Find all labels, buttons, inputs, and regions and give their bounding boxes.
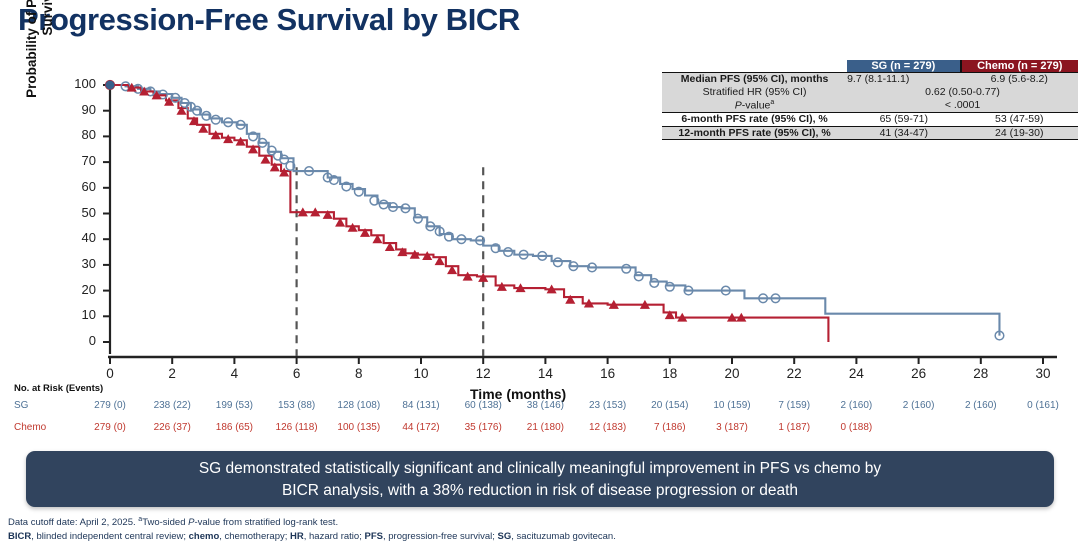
abbrev-pfs: PFS [364, 531, 382, 542]
censor-marker-sg-22 [355, 187, 364, 196]
row-value-12month-sg: 41 (34-47) [847, 126, 960, 140]
censor-marker-sg-3 [159, 90, 168, 99]
risk-value-sg-m6: 153 (88) [267, 400, 327, 411]
censor-marker-sg-13 [258, 139, 267, 148]
risk-row-label-chemo: Chemo [14, 422, 46, 433]
censor-marker-chemo-21 [386, 243, 394, 250]
censor-marker-sg-4 [171, 94, 180, 103]
censor-marker-sg-15 [274, 151, 283, 160]
x-tick-label-2: 2 [157, 366, 187, 381]
footnote-abbreviations: BICR, blinded independent central review… [8, 530, 808, 543]
y-tick-label-30: 30 [62, 256, 96, 271]
censor-marker-chemo-35 [641, 301, 649, 308]
censor-marker-chemo-10 [249, 145, 257, 152]
censor-marker-chemo-16 [324, 211, 332, 218]
row-label-12month: 12-month PFS rate (95% CI), % [662, 126, 847, 140]
abbrev-bicr: BICR [8, 531, 31, 542]
censor-marker-sg-6 [187, 103, 196, 112]
risk-value-chemo-m2: 226 (37) [142, 422, 202, 433]
risk-value-sg-m8: 128 (108) [329, 400, 389, 411]
risk-value-sg-m2: 238 (22) [142, 400, 202, 411]
censor-marker-chemo-27 [463, 273, 471, 280]
x-tick-label-24: 24 [841, 366, 871, 381]
risk-value-chemo-m8: 100 (135) [329, 422, 389, 433]
risk-value-chemo-m14: 21 (180) [515, 422, 575, 433]
censor-marker-sg-38 [569, 262, 578, 271]
risk-value-sg-m22: 7 (159) [764, 400, 824, 411]
footnote-line-1: Data cutoff date: April 2, 2025. aTwo-si… [8, 515, 808, 530]
censor-marker-sg-27 [414, 214, 423, 223]
risk-value-chemo-m16: 12 (183) [578, 422, 638, 433]
censor-marker-chemo-11 [261, 156, 269, 163]
censor-marker-sg-39 [588, 263, 597, 272]
censor-marker-sg-36 [538, 252, 547, 261]
abbrev-chemo: chemo [189, 531, 220, 542]
censor-marker-chemo-15 [311, 208, 319, 215]
x-tick-label-20: 20 [717, 366, 747, 381]
censor-marker-chemo-26 [448, 266, 456, 273]
censor-marker-chemo-30 [516, 284, 524, 291]
page-title: Progression-Free Survival by BICR [18, 2, 520, 38]
censor-marker-sg-35 [519, 250, 528, 259]
risk-value-sg-m28: 2 (160) [951, 400, 1011, 411]
abbrev-bicr-def: , blinded independent central review; [31, 531, 188, 542]
abbrev-hr: HR [290, 531, 304, 542]
y-tick-label-80: 80 [62, 127, 96, 142]
stats-header-sg: SG (n = 279) [847, 60, 960, 73]
y-tick-label-90: 90 [62, 102, 96, 117]
x-tick-label-10: 10 [406, 366, 436, 381]
censor-marker-chemo-6 [199, 125, 207, 132]
risk-value-chemo-m24: 0 (188) [826, 422, 886, 433]
conclusion-banner: SG demonstrated statistically significan… [26, 451, 1054, 507]
censor-marker-sg-32 [476, 236, 485, 245]
table-row-pvalue: P-valuea < .0001 [662, 99, 1078, 113]
censor-marker-chemo-38 [728, 314, 736, 321]
censor-marker-sg-46 [759, 294, 768, 303]
censor-marker-chemo-36 [666, 311, 674, 318]
censor-marker-sg-9 [211, 115, 220, 124]
row-value-6month-sg: 65 (59-71) [847, 112, 960, 126]
banner-line-1: SG demonstrated statistically significan… [26, 458, 1054, 480]
censor-marker-chemo-1 [140, 88, 148, 95]
row-label-median-pfs: Median PFS (95% CI), months [662, 73, 847, 86]
censor-marker-sg-14 [267, 146, 276, 155]
censor-marker-sg-24 [379, 200, 388, 209]
footnote-logrank: -value from stratified log-rank test. [194, 517, 338, 528]
censor-marker-chemo-2 [152, 91, 160, 98]
censor-marker-sg-44 [684, 286, 693, 295]
y-tick-label-40: 40 [62, 230, 96, 245]
risk-value-chemo-m18: 7 (186) [640, 422, 700, 433]
risk-value-chemo-m0: 279 (0) [80, 422, 140, 433]
risk-value-sg-m26: 2 (160) [889, 400, 949, 411]
y-tick-label-70: 70 [62, 153, 96, 168]
censor-marker-chemo-12 [271, 163, 279, 170]
censor-marker-sg-19 [323, 173, 332, 182]
censor-marker-sg-40 [622, 264, 631, 273]
y-tick-label-0: 0 [62, 333, 96, 348]
censor-marker-sg-11 [236, 121, 245, 130]
y-axis-label: Probability of Progression-Free Survival… [24, 0, 56, 112]
row-label-stratified-hr: Stratified HR (95% CI) [662, 86, 847, 99]
statistics-table: SG (n = 279) Chemo (n = 279) Median PFS … [662, 60, 1078, 140]
censor-marker-chemo-14 [299, 208, 307, 215]
table-row-median-pfs: Median PFS (95% CI), months 9.7 (8.1-11.… [662, 73, 1078, 86]
risk-value-sg-m18: 20 (154) [640, 400, 700, 411]
censor-marker-chemo-28 [479, 274, 487, 281]
censor-marker-chemo-0 [128, 84, 136, 91]
censor-marker-sg-23 [370, 196, 379, 205]
censor-marker-sg-16 [280, 155, 289, 164]
censor-marker-chemo-13 [280, 169, 288, 176]
row-value-pvalue: < .0001 [847, 99, 1078, 113]
table-row-12month: 12-month PFS rate (95% CI), % 41 (34-47)… [662, 126, 1078, 140]
x-tick-label-12: 12 [468, 366, 498, 381]
y-tick-label-50: 50 [62, 205, 96, 220]
censor-marker-chemo-17 [336, 219, 344, 226]
censor-marker-sg-1 [134, 85, 143, 94]
risk-value-chemo-m10: 44 (172) [391, 422, 451, 433]
stats-header-blank [662, 60, 847, 73]
risk-value-sg-m10: 84 (131) [391, 400, 451, 411]
censor-marker-sg-7 [193, 106, 202, 115]
footnote-twosided: Two-sided [142, 517, 188, 528]
row-label-6month: 6-month PFS rate (95% CI), % [662, 112, 847, 126]
footnotes: Data cutoff date: April 2, 2025. aTwo-si… [8, 515, 808, 543]
risk-value-chemo-m12: 35 (176) [453, 422, 513, 433]
censor-marker-sg-41 [634, 272, 643, 281]
risk-row-label-sg: SG [14, 400, 28, 411]
x-tick-label-8: 8 [344, 366, 374, 381]
stats-header-chemo: Chemo (n = 279) [961, 60, 1079, 73]
censor-marker-chemo-39 [737, 314, 745, 321]
censor-marker-chemo-33 [585, 300, 593, 307]
censor-marker-chemo-32 [566, 296, 574, 303]
censor-marker-sg-10 [224, 118, 233, 127]
x-tick-label-0: 0 [95, 366, 125, 381]
censor-marker-sg-31 [457, 235, 466, 244]
censor-marker-sg-30 [445, 232, 454, 241]
y-tick-label-60: 60 [62, 179, 96, 194]
table-row-stratified-hr: Stratified HR (95% CI) 0.62 (0.50-0.77) [662, 86, 1078, 99]
abbrev-chemo-def: , chemotherapy; [219, 531, 290, 542]
censor-marker-sg-17 [286, 162, 295, 171]
origin-marker-chemo [105, 80, 114, 89]
risk-value-sg-m0: 279 (0) [80, 400, 140, 411]
row-value-median-pfs-sg: 9.7 (8.1-11.1) [847, 73, 960, 86]
pvalue-text: -value [742, 99, 771, 111]
y-tick-label-20: 20 [62, 282, 96, 297]
risk-value-sg-m20: 10 (159) [702, 400, 762, 411]
censor-marker-sg-42 [650, 279, 659, 288]
risk-value-sg-m4: 199 (53) [204, 400, 264, 411]
censor-marker-chemo-24 [423, 252, 431, 259]
risk-value-sg-m12: 60 (138) [453, 400, 513, 411]
risk-value-sg-m30: 0 (161) [1013, 400, 1073, 411]
risk-value-sg-m16: 23 (153) [578, 400, 638, 411]
x-tick-label-4: 4 [219, 366, 249, 381]
pvalue-italic-p: P [735, 99, 742, 111]
censor-marker-sg-0 [121, 82, 130, 91]
risk-value-chemo-m6: 126 (118) [267, 422, 327, 433]
x-tick-label-14: 14 [530, 366, 560, 381]
censor-marker-sg-8 [202, 112, 211, 121]
censor-marker-chemo-22 [398, 248, 406, 255]
banner-line-2: BICR analysis, with a 38% reduction in r… [26, 480, 1054, 502]
censor-marker-chemo-9 [236, 138, 244, 145]
pvalue-superscript: a [770, 99, 774, 106]
censor-marker-chemo-34 [610, 301, 618, 308]
censor-marker-chemo-19 [361, 229, 369, 236]
y-tick-label-10: 10 [62, 307, 96, 322]
x-tick-label-16: 16 [593, 366, 623, 381]
censor-marker-sg-34 [504, 248, 513, 257]
y-tick-label-100: 100 [62, 76, 96, 91]
censor-marker-sg-20 [330, 176, 339, 185]
censor-marker-chemo-5 [190, 117, 198, 124]
risk-value-sg-m24: 2 (160) [826, 400, 886, 411]
stats-header-row: SG (n = 279) Chemo (n = 279) [662, 60, 1078, 73]
table-row-6month: 6-month PFS rate (95% CI), % 65 (59-71) … [662, 112, 1078, 126]
abbrev-sg: SG [498, 531, 512, 542]
censor-marker-sg-12 [249, 132, 258, 141]
censor-marker-sg-25 [389, 203, 398, 212]
censor-marker-chemo-20 [373, 235, 381, 242]
x-tick-label-22: 22 [779, 366, 809, 381]
risk-value-chemo-m20: 3 (187) [702, 422, 762, 433]
abbrev-pfs-def: , progression-free survival; [383, 531, 498, 542]
row-value-12month-chemo: 24 (19-30) [961, 126, 1079, 140]
risk-table-heading: No. at Risk (Events) [14, 383, 103, 394]
censor-marker-chemo-23 [411, 251, 419, 258]
censor-marker-chemo-31 [547, 286, 555, 293]
origin-marker-sg [106, 81, 114, 89]
x-tick-label-28: 28 [966, 366, 996, 381]
censor-marker-chemo-7 [212, 131, 220, 138]
censor-marker-sg-29 [435, 227, 444, 236]
abbrev-hr-def: , hazard ratio; [304, 531, 365, 542]
censor-marker-sg-2 [146, 87, 155, 96]
censor-marker-sg-18 [305, 167, 314, 176]
censor-marker-sg-45 [721, 286, 730, 295]
abbrev-sg-def: , sacituzumab govitecan. [511, 531, 616, 542]
censor-marker-chemo-37 [678, 314, 686, 321]
censor-marker-sg-28 [426, 222, 435, 231]
censor-marker-sg-21 [342, 182, 351, 191]
footnote-cutoff: Data cutoff date: April 2, 2025. [8, 517, 138, 528]
censor-marker-chemo-29 [498, 283, 506, 290]
x-tick-label-18: 18 [655, 366, 685, 381]
censor-marker-sg-47 [771, 294, 780, 303]
censor-marker-sg-43 [666, 282, 675, 291]
censor-marker-chemo-3 [165, 98, 173, 105]
x-tick-label-6: 6 [282, 366, 312, 381]
x-tick-label-26: 26 [904, 366, 934, 381]
censor-marker-chemo-18 [348, 224, 356, 231]
censor-marker-sg-33 [491, 244, 500, 253]
censor-marker-sg-37 [554, 258, 563, 267]
risk-value-chemo-m4: 186 (65) [204, 422, 264, 433]
censor-marker-chemo-4 [177, 107, 185, 114]
row-value-6month-chemo: 53 (47-59) [961, 112, 1079, 126]
x-tick-label-30: 30 [1028, 366, 1058, 381]
row-label-pvalue: P-valuea [662, 99, 847, 113]
row-value-median-pfs-chemo: 6.9 (5.6-8.2) [961, 73, 1079, 86]
risk-value-sg-m14: 38 (146) [515, 400, 575, 411]
censor-marker-sg-26 [401, 204, 410, 213]
censor-marker-sg-48 [995, 331, 1004, 340]
row-value-stratified-hr: 0.62 (0.50-0.77) [847, 86, 1078, 99]
censor-marker-chemo-8 [224, 135, 232, 142]
risk-value-chemo-m22: 1 (187) [764, 422, 824, 433]
censor-marker-sg-5 [180, 99, 189, 108]
censor-marker-chemo-25 [435, 257, 443, 264]
